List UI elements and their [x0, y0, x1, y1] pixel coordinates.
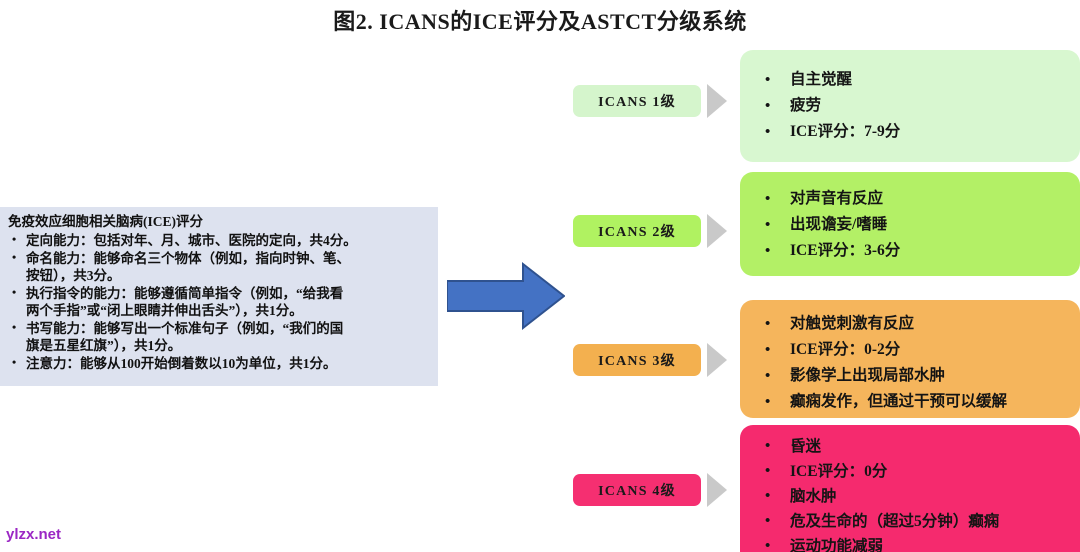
watermark: ylzx.net [6, 526, 61, 543]
ice-score-box: 免疫效应细胞相关脑病(ICE)评分 定向能力：包括对年、月、城市、医院的定向，共… [0, 207, 438, 386]
grade-detail-bullet: ICE评分：0分 [750, 459, 1070, 484]
page-title: 图2. ICANS的ICE评分及ASTCT分级系统 [0, 4, 1080, 36]
triangle-arrow-icon-3 [707, 343, 727, 377]
grade-detail-list-2: 对声音有反应出现谵妄/嗜睡ICE评分：3-6分 [750, 180, 1070, 264]
grade-detail-bullet: 昏迷 [750, 434, 1070, 459]
grade-detail-panel-icans-4: 昏迷ICE评分：0分脑水肿危及生命的（超过5分钟）癫痫运动功能减弱 [740, 425, 1080, 552]
grade-detail-bullet: 自主觉醒 [750, 67, 1070, 93]
ice-score-criterion: 定向能力：包括对年、月、城市、医院的定向，共4分。 [8, 232, 430, 250]
ice-score-criterion: 执行指令的能力：能够遵循简单指令（例如，“给我看 [8, 285, 430, 303]
grade-chip-icans-2[interactable]: ICANS 2级 [573, 215, 701, 247]
grade-detail-bullet: 对触觉刺激有反应 [750, 311, 1070, 337]
grade-chip-label: ICANS 4级 [598, 480, 676, 500]
grade-chip-icans-3[interactable]: ICANS 3级 [573, 344, 701, 376]
ice-score-criterion: 书写能力：能够写出一个标准句子（例如，“我们的国 [8, 320, 430, 338]
grade-detail-list-1: 自主觉醒疲劳ICE评分：7-9分 [750, 58, 1070, 145]
grade-detail-bullet: ICE评分：7-9分 [750, 119, 1070, 145]
grade-detail-panel-icans-2: 对声音有反应出现谵妄/嗜睡ICE评分：3-6分 [740, 172, 1080, 276]
grade-detail-bullet: 出现谵妄/嗜睡 [750, 212, 1070, 238]
grade-chip-icans-4[interactable]: ICANS 4级 [573, 474, 701, 506]
ice-score-criteria-list: 定向能力：包括对年、月、城市、医院的定向，共4分。命名能力：能够命名三个物体（例… [8, 232, 430, 372]
grade-detail-bullet: ICE评分：3-6分 [750, 238, 1070, 264]
grade-detail-bullet: 脑水肿 [750, 484, 1070, 509]
grade-chip-label: ICANS 2级 [598, 221, 676, 241]
triangle-arrow-icon-1 [707, 84, 727, 118]
ice-score-heading: 免疫效应细胞相关脑病(ICE)评分 [8, 213, 430, 231]
ice-score-criterion: 按钮），共3分。 [8, 267, 430, 285]
grade-chip-label: ICANS 1级 [598, 91, 676, 111]
ice-score-criterion: 注意力：能够从100开始倒着数以10为单位，共1分。 [8, 355, 430, 373]
grade-chip-label: ICANS 3级 [598, 350, 676, 370]
ice-score-criterion: 旗是五星红旗”），共1分。 [8, 337, 430, 355]
grade-detail-list-4: 昏迷ICE评分：0分脑水肿危及生命的（超过5分钟）癫痫运动功能减弱 [750, 433, 1070, 552]
grade-detail-bullet: 疲劳 [750, 93, 1070, 119]
grade-detail-bullet: 危及生命的（超过5分钟）癫痫 [750, 509, 1070, 534]
grade-detail-bullet: ICE评分：0-2分 [750, 337, 1070, 363]
grade-detail-bullet: 影像学上出现局部水肿 [750, 363, 1070, 389]
grade-detail-bullet: 对声音有反应 [750, 186, 1070, 212]
triangle-arrow-icon-2 [707, 214, 727, 248]
ice-score-criterion: 命名能力：能够命名三个物体（例如，指向时钟、笔、 [8, 250, 430, 268]
flow-arrow-right [447, 261, 565, 331]
triangle-arrow-icon-4 [707, 473, 727, 507]
grade-detail-bullet: 运动功能减弱 [750, 534, 1070, 552]
ice-score-criterion: 两个手指”或“闭上眼睛并伸出舌头”），共1分。 [8, 302, 430, 320]
grade-detail-panel-icans-3: 对触觉刺激有反应ICE评分：0-2分影像学上出现局部水肿癫痫发作，但通过干预可以… [740, 300, 1080, 418]
grade-chip-icans-1[interactable]: ICANS 1级 [573, 85, 701, 117]
grade-detail-list-3: 对触觉刺激有反应ICE评分：0-2分影像学上出现局部水肿癫痫发作，但通过干预可以… [750, 308, 1070, 415]
grade-detail-bullet: 癫痫发作，但通过干预可以缓解 [750, 389, 1070, 415]
grade-detail-panel-icans-1: 自主觉醒疲劳ICE评分：7-9分 [740, 50, 1080, 162]
